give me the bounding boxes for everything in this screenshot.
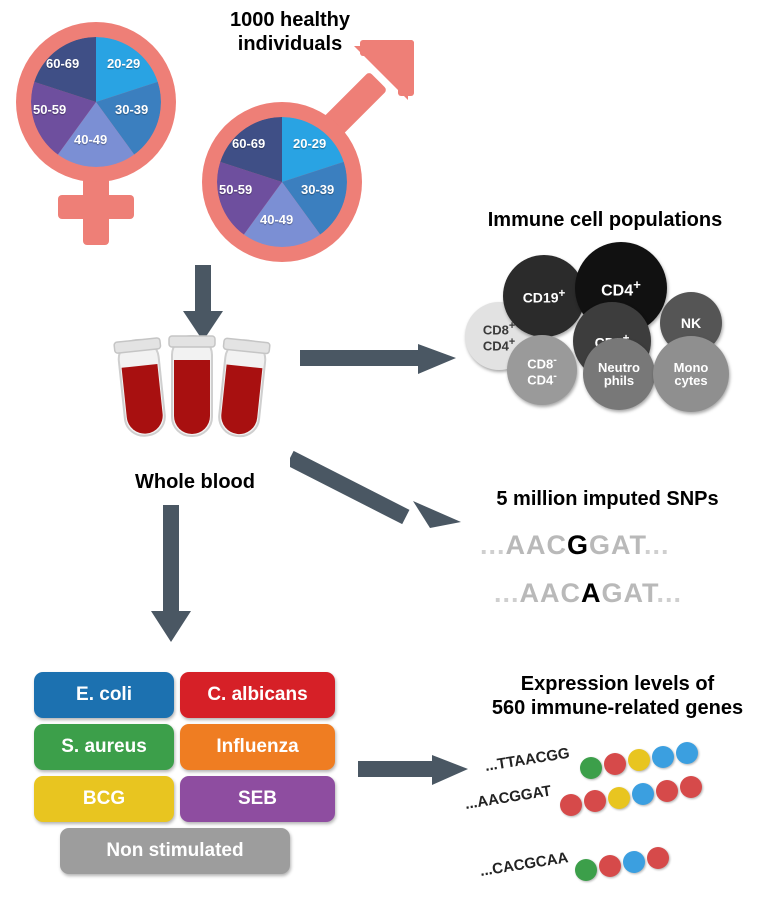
immune-cell-cd8n-cd4n: CD8-CD4- bbox=[507, 335, 577, 405]
gene-bead bbox=[560, 794, 582, 816]
gene-bead bbox=[676, 742, 698, 764]
female-age-label-40-49: 40-49 bbox=[74, 132, 107, 147]
gene-bead bbox=[604, 753, 626, 775]
male-gender-symbol: 20-29 30-39 40-49 50-59 60-69 bbox=[195, 40, 415, 260]
gene-bead bbox=[584, 790, 606, 812]
immune-populations-title: Immune cell populations bbox=[450, 208, 760, 232]
stimulus-bcg[interactable]: BCG bbox=[34, 776, 174, 822]
gene-bead bbox=[599, 855, 621, 877]
snps-title: 5 million imputed SNPs bbox=[455, 487, 760, 511]
gene-bead bbox=[647, 847, 669, 869]
gene-strand-1: ...TTAACGG bbox=[485, 742, 765, 782]
stimulus-s-aureus[interactable]: S. aureus bbox=[34, 724, 174, 770]
female-age-label-20-29: 20-29 bbox=[107, 56, 140, 71]
arrow-blood-to-snps bbox=[290, 440, 465, 555]
snp-sequence-top: ...AACGGAT... bbox=[480, 530, 670, 561]
arrow-stimuli-to-expression bbox=[358, 745, 470, 793]
stimulus-non-stimulated[interactable]: Non stimulated bbox=[60, 828, 290, 874]
whole-blood-tubes bbox=[112, 332, 277, 447]
expression-title-line2: 560 immune-related genes bbox=[470, 696, 765, 720]
gene-strand-1-label: ...TTAACGG bbox=[484, 745, 571, 775]
immune-cell-cluster: CD8+CD4+ CD19+ CD4+ NK CD8+ CD8-CD4- Neu… bbox=[455, 240, 755, 410]
expression-title-line1: Expression levels of bbox=[470, 672, 765, 696]
stimulus-c-albicans[interactable]: C. albicans bbox=[180, 672, 335, 718]
gene-bead bbox=[680, 776, 702, 798]
gene-strand-2-label: ...AACGGAT bbox=[464, 782, 553, 812]
cohort-title-line1: 1000 healthy bbox=[175, 8, 405, 32]
male-age-label-20-29: 20-29 bbox=[293, 136, 326, 151]
immune-cell-neutrophils: Neutrophils bbox=[583, 338, 655, 410]
female-age-label-50-59: 50-59 bbox=[33, 102, 66, 117]
gene-strand-2: ...AACGGAT bbox=[465, 778, 765, 818]
male-age-label-40-49: 40-49 bbox=[260, 212, 293, 227]
female-age-label-30-39: 30-39 bbox=[115, 102, 148, 117]
arrow-blood-to-stimuli bbox=[148, 505, 194, 645]
immune-cell-cd19p: CD19+ bbox=[503, 255, 585, 337]
gene-strand-3-label: ...CACGCAA bbox=[479, 849, 570, 880]
gene-bead bbox=[632, 783, 654, 805]
female-age-label-60-69: 60-69 bbox=[46, 56, 79, 71]
gene-bead bbox=[623, 851, 645, 873]
male-age-label-60-69: 60-69 bbox=[232, 136, 265, 151]
gene-strand-3: ...CACGCAA bbox=[480, 845, 771, 885]
expression-title: Expression levels of 560 immune-related … bbox=[470, 672, 765, 720]
male-age-label-50-59: 50-59 bbox=[219, 182, 252, 197]
male-age-label-30-39: 30-39 bbox=[301, 182, 334, 197]
gene-bead bbox=[628, 749, 650, 771]
female-gender-symbol: 20-29 30-39 40-49 50-59 60-69 bbox=[8, 10, 198, 240]
stimulus-seb[interactable]: SEB bbox=[180, 776, 335, 822]
female-symbol-crossbar bbox=[58, 195, 134, 219]
snp-sequences: ...AACGGAT... ...AACAGAT... bbox=[480, 530, 740, 630]
gene-bead bbox=[580, 757, 602, 779]
stimulus-influenza[interactable]: Influenza bbox=[180, 724, 335, 770]
stimulus-e-coli[interactable]: E. coli bbox=[34, 672, 174, 718]
whole-blood-label: Whole blood bbox=[85, 470, 305, 494]
gene-bead bbox=[652, 746, 674, 768]
snp-sequence-bottom: ...AACAGAT... bbox=[494, 578, 682, 609]
gene-bead bbox=[656, 780, 678, 802]
snp-variant-bottom: A bbox=[581, 578, 602, 608]
snp-variant-top: G bbox=[567, 530, 589, 560]
gene-bead bbox=[575, 859, 597, 881]
arrow-blood-to-immune bbox=[300, 330, 460, 380]
immune-cell-monocytes: Monocytes bbox=[653, 336, 729, 412]
gene-bead bbox=[608, 787, 630, 809]
